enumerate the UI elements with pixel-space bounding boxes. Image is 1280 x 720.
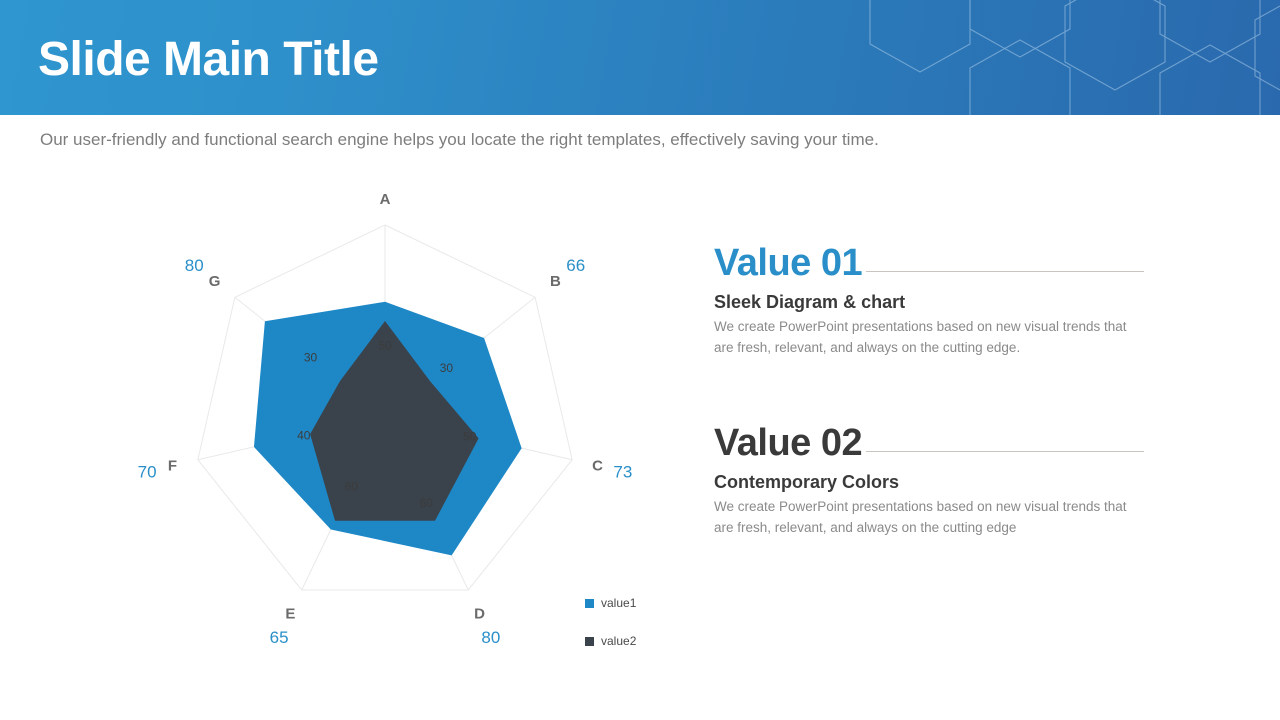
page-title: Slide Main Title [38,36,379,84]
radar-value1-label-F: 70 [138,462,157,481]
value-block-02-rule [866,451,1144,452]
slide-subtitle: Our user-friendly and functional search … [40,130,879,150]
radar-value2-label-F: 40 [297,429,311,443]
legend-item-value2[interactable]: value2 [585,630,705,652]
hexagon-pattern-icon [860,0,1280,115]
value-block-01-title: Value 01 [714,244,862,284]
radar-value2-label-D: 60 [420,496,434,510]
radar-chart-svg: ABCDEFG6066738065708050305060604030 [120,185,680,655]
radar-chart: ABCDEFG6066738065708050305060604030 [120,185,680,655]
value-block-01-head: Value 01 [714,244,1144,284]
radar-value1-label-E: 65 [270,628,289,647]
value-block-01-rule [866,271,1144,272]
legend-item-value1[interactable]: value1 [585,592,705,614]
value-block-02: Value 02 Contemporary Colors We create P… [714,424,1144,539]
value-block-01-subtitle: Sleek Diagram & chart [714,292,1144,313]
radar-value2-label-C: 50 [463,429,477,443]
radar-value2-label-A: 50 [378,339,392,353]
legend-swatch-value2 [585,637,594,646]
value-block-02-subtitle: Contemporary Colors [714,472,1144,493]
slide-header: Slide Main Title [0,0,1280,115]
value-block-01-body: We create PowerPoint presentations based… [714,317,1139,359]
chart-legend: value1 value2 [585,592,705,668]
legend-label-value1: value1 [601,596,636,610]
value-block-02-body: We create PowerPoint presentations based… [714,497,1139,539]
radar-axis-label-A: A [380,191,391,208]
radar-axis-label-E: E [285,605,295,622]
radar-value2-label-E: 60 [345,480,359,494]
radar-value1-label-C: 73 [613,462,632,481]
value-block-02-head: Value 02 [714,424,1144,464]
radar-axis-label-B: B [550,273,561,290]
radar-axis-label-G: G [209,273,221,290]
radar-value2-label-B: 30 [440,361,454,375]
value-block-02-title: Value 02 [714,424,862,464]
legend-swatch-value1 [585,599,594,608]
legend-label-value2: value2 [601,634,636,648]
radar-value1-label-B: 66 [566,256,585,275]
radar-value2-label-G: 30 [304,351,318,365]
radar-axis-label-F: F [168,458,177,475]
radar-value1-label-G: 80 [185,256,204,275]
radar-axis-label-D: D [474,605,485,622]
radar-value1-label-D: 80 [481,628,500,647]
radar-axis-label-C: C [592,458,603,475]
value-block-01: Value 01 Sleek Diagram & chart We create… [714,244,1144,359]
